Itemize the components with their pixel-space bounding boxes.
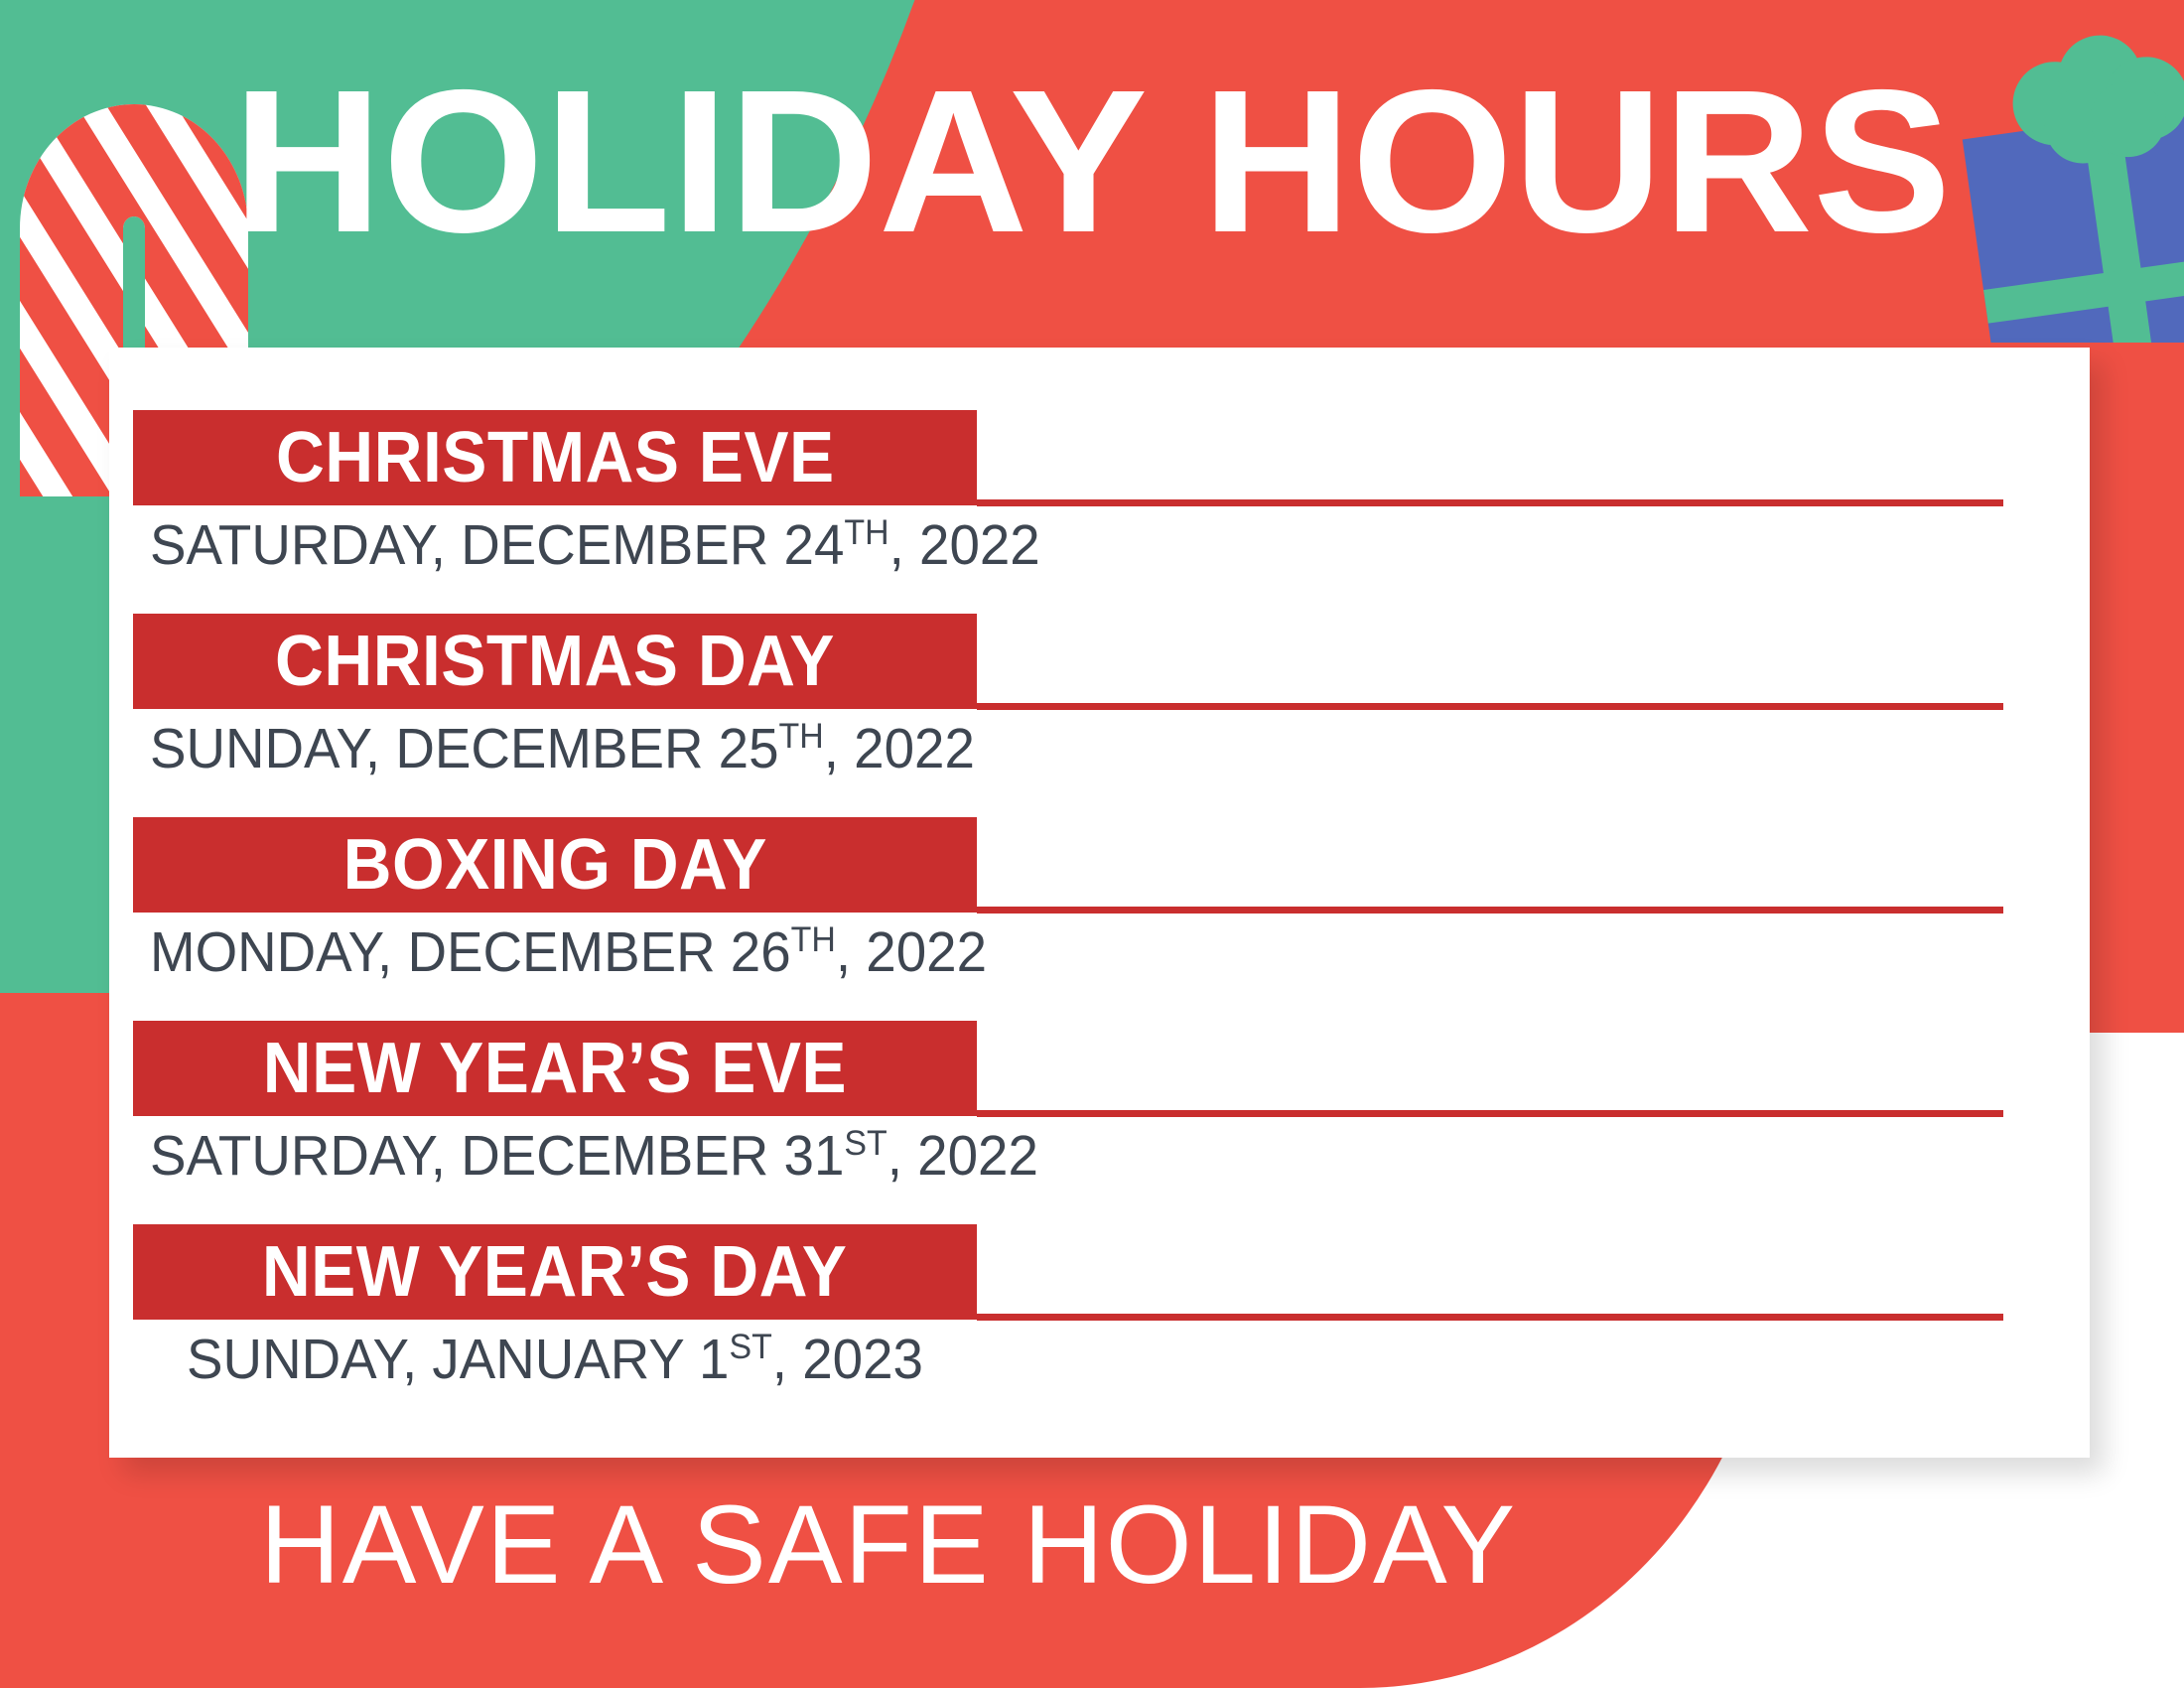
hours-write-in-rule [977, 499, 2003, 506]
date-ordinal: TH [844, 513, 888, 552]
holiday-date-label: SUNDAY, DECEMBER 25TH, 2022 [150, 717, 960, 782]
date-suffix: , 2022 [824, 717, 975, 780]
date-prefix: SATURDAY, DECEMBER 24 [150, 513, 844, 577]
date-prefix: SUNDAY, JANUARY 1 [187, 1328, 729, 1391]
holiday-name-label: BOXING DAY [342, 829, 766, 901]
date-ordinal: ST [844, 1124, 887, 1163]
holiday-name-band: NEW YEAR’S EVE [133, 1021, 977, 1116]
date-prefix: SUNDAY, DECEMBER 25 [150, 717, 779, 780]
date-ordinal: ST [729, 1328, 771, 1366]
hours-write-in-rule [977, 1314, 2003, 1321]
page-title: HOLIDAY HOURS [0, 60, 2184, 263]
date-suffix: , 2022 [887, 1124, 1038, 1188]
date-suffix: , 2023 [772, 1328, 923, 1391]
date-prefix: SATURDAY, DECEMBER 31 [150, 1124, 844, 1188]
date-suffix: , 2022 [889, 513, 1040, 577]
holiday-hours-card: CHRISTMAS EVE SATURDAY, DECEMBER 24TH, 2… [109, 348, 2090, 1458]
holiday-rows-list: CHRISTMAS EVE SATURDAY, DECEMBER 24TH, 2… [109, 348, 2090, 1458]
date-ordinal: TH [791, 920, 836, 959]
holiday-name-label: NEW YEAR’S DAY [262, 1236, 848, 1308]
date-prefix: MONDAY, DECEMBER 26 [150, 920, 791, 984]
hours-write-in-rule [977, 1110, 2003, 1117]
holiday-date-label: MONDAY, DECEMBER 26TH, 2022 [150, 920, 960, 986]
date-suffix: , 2022 [836, 920, 987, 984]
holiday-hours-poster: HOLIDAY HOURS CHRISTMAS EVE SATURDAY, DE… [0, 0, 2184, 1688]
holiday-name-band: NEW YEAR’S DAY [133, 1224, 977, 1320]
holiday-date-label: SATURDAY, DECEMBER 24TH, 2022 [150, 513, 960, 579]
holiday-name-label: NEW YEAR’S EVE [263, 1033, 847, 1104]
holiday-name-label: CHRISTMAS EVE [276, 422, 835, 493]
holiday-name-band: CHRISTMAS EVE [133, 410, 977, 505]
holiday-date-label: SATURDAY, DECEMBER 31ST, 2022 [150, 1124, 960, 1190]
date-ordinal: TH [779, 717, 824, 756]
holiday-name-band: CHRISTMAS DAY [133, 614, 977, 709]
holiday-date-label: SUNDAY, JANUARY 1ST, 2023 [150, 1328, 960, 1393]
hours-write-in-rule [977, 703, 2003, 710]
hours-write-in-rule [977, 907, 2003, 914]
footer-message: HAVE A SAFE HOLIDAY [0, 1489, 1777, 1601]
holiday-name-band: BOXING DAY [133, 817, 977, 913]
holiday-name-label: CHRISTMAS DAY [275, 626, 835, 697]
